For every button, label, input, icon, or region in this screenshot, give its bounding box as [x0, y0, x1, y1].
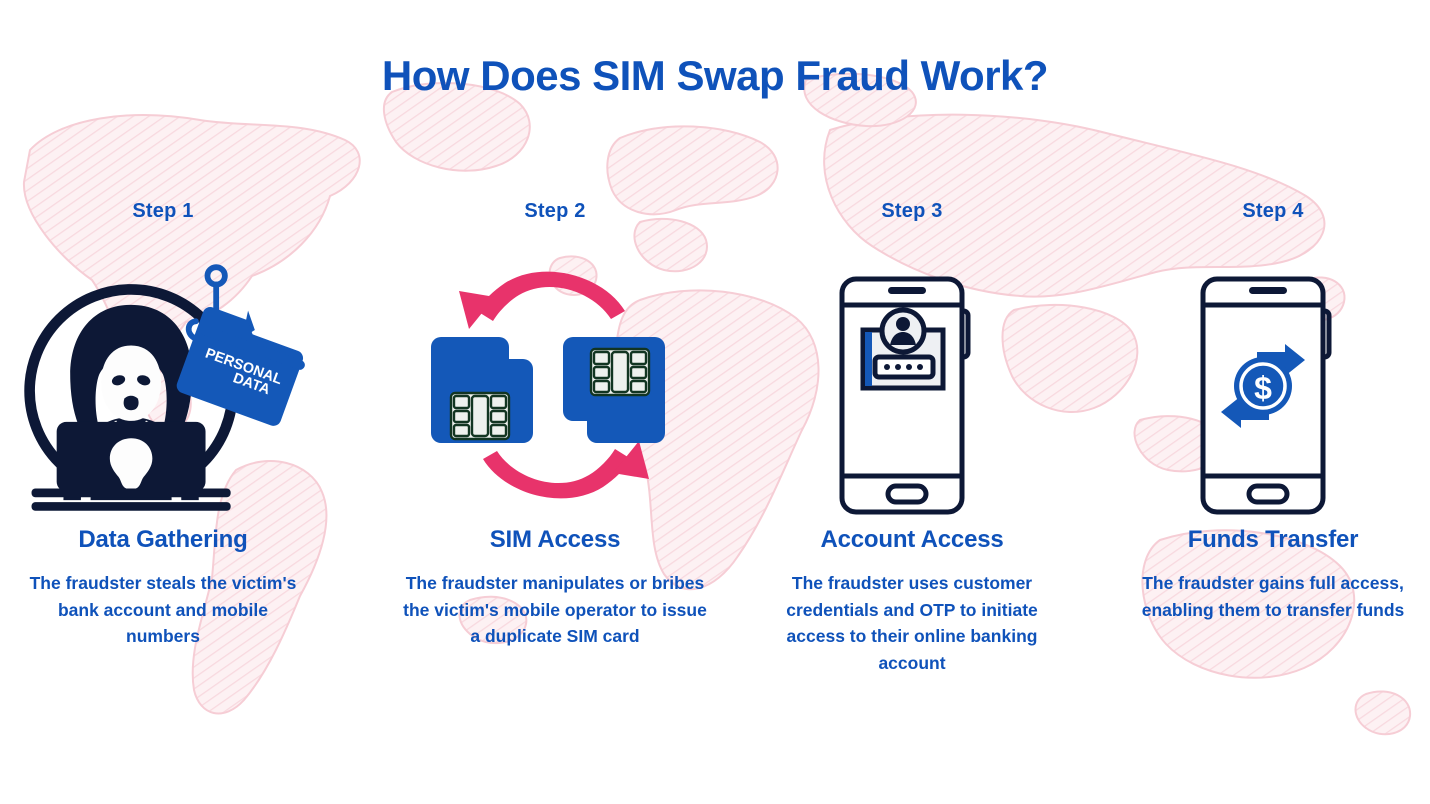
step-3-label: Step 3: [762, 200, 1062, 223]
step-2-artwork: [400, 233, 710, 518]
dollar-sign-icon: $: [1254, 370, 1272, 406]
phone-money-transfer-icon: $: [1193, 273, 1353, 518]
infographic-page: How Does SIM Swap Fraud Work? Step 1: [0, 0, 1430, 804]
step-2-description: The fraudster manipulates or bribes the …: [400, 570, 710, 650]
step-3-title: Account Access: [762, 526, 1062, 554]
step-1-artwork: PERSONAL DATA: [18, 233, 308, 518]
step-1-label: Step 1: [18, 200, 308, 223]
step-1-title: Data Gathering: [18, 526, 308, 554]
step-4-description: The fraudster gains full access, enablin…: [1128, 570, 1418, 623]
step-column-4: Step 4: [1128, 200, 1418, 623]
step-2-title: SIM Access: [400, 526, 710, 554]
step-3-artwork: [762, 233, 1062, 518]
phone-login-credentials-icon: [832, 273, 992, 518]
step-3-description: The fraudster uses customer credentials …: [762, 570, 1062, 676]
sim-card-right-icon: [563, 337, 665, 443]
sim-card-left-icon: [431, 337, 533, 443]
swap-arrow-bottom-icon: [483, 441, 649, 498]
step-4-artwork: $: [1128, 233, 1418, 518]
page-title: How Does SIM Swap Fraud Work?: [0, 52, 1430, 100]
step-column-3: Step 3: [762, 200, 1062, 676]
step-column-1: Step 1: [18, 200, 308, 650]
sim-swap-arrows-icon: [425, 253, 685, 518]
step-4-title: Funds Transfer: [1128, 526, 1418, 554]
step-2-label: Step 2: [400, 200, 710, 223]
swap-arrow-top-icon: [459, 272, 625, 329]
step-4-label: Step 4: [1128, 200, 1418, 223]
hacker-laptop-phishing-icon: PERSONAL DATA: [18, 258, 308, 518]
step-column-2: Step 2: [400, 200, 710, 650]
step-1-description: The fraudster steals the victim's bank a…: [18, 570, 308, 650]
